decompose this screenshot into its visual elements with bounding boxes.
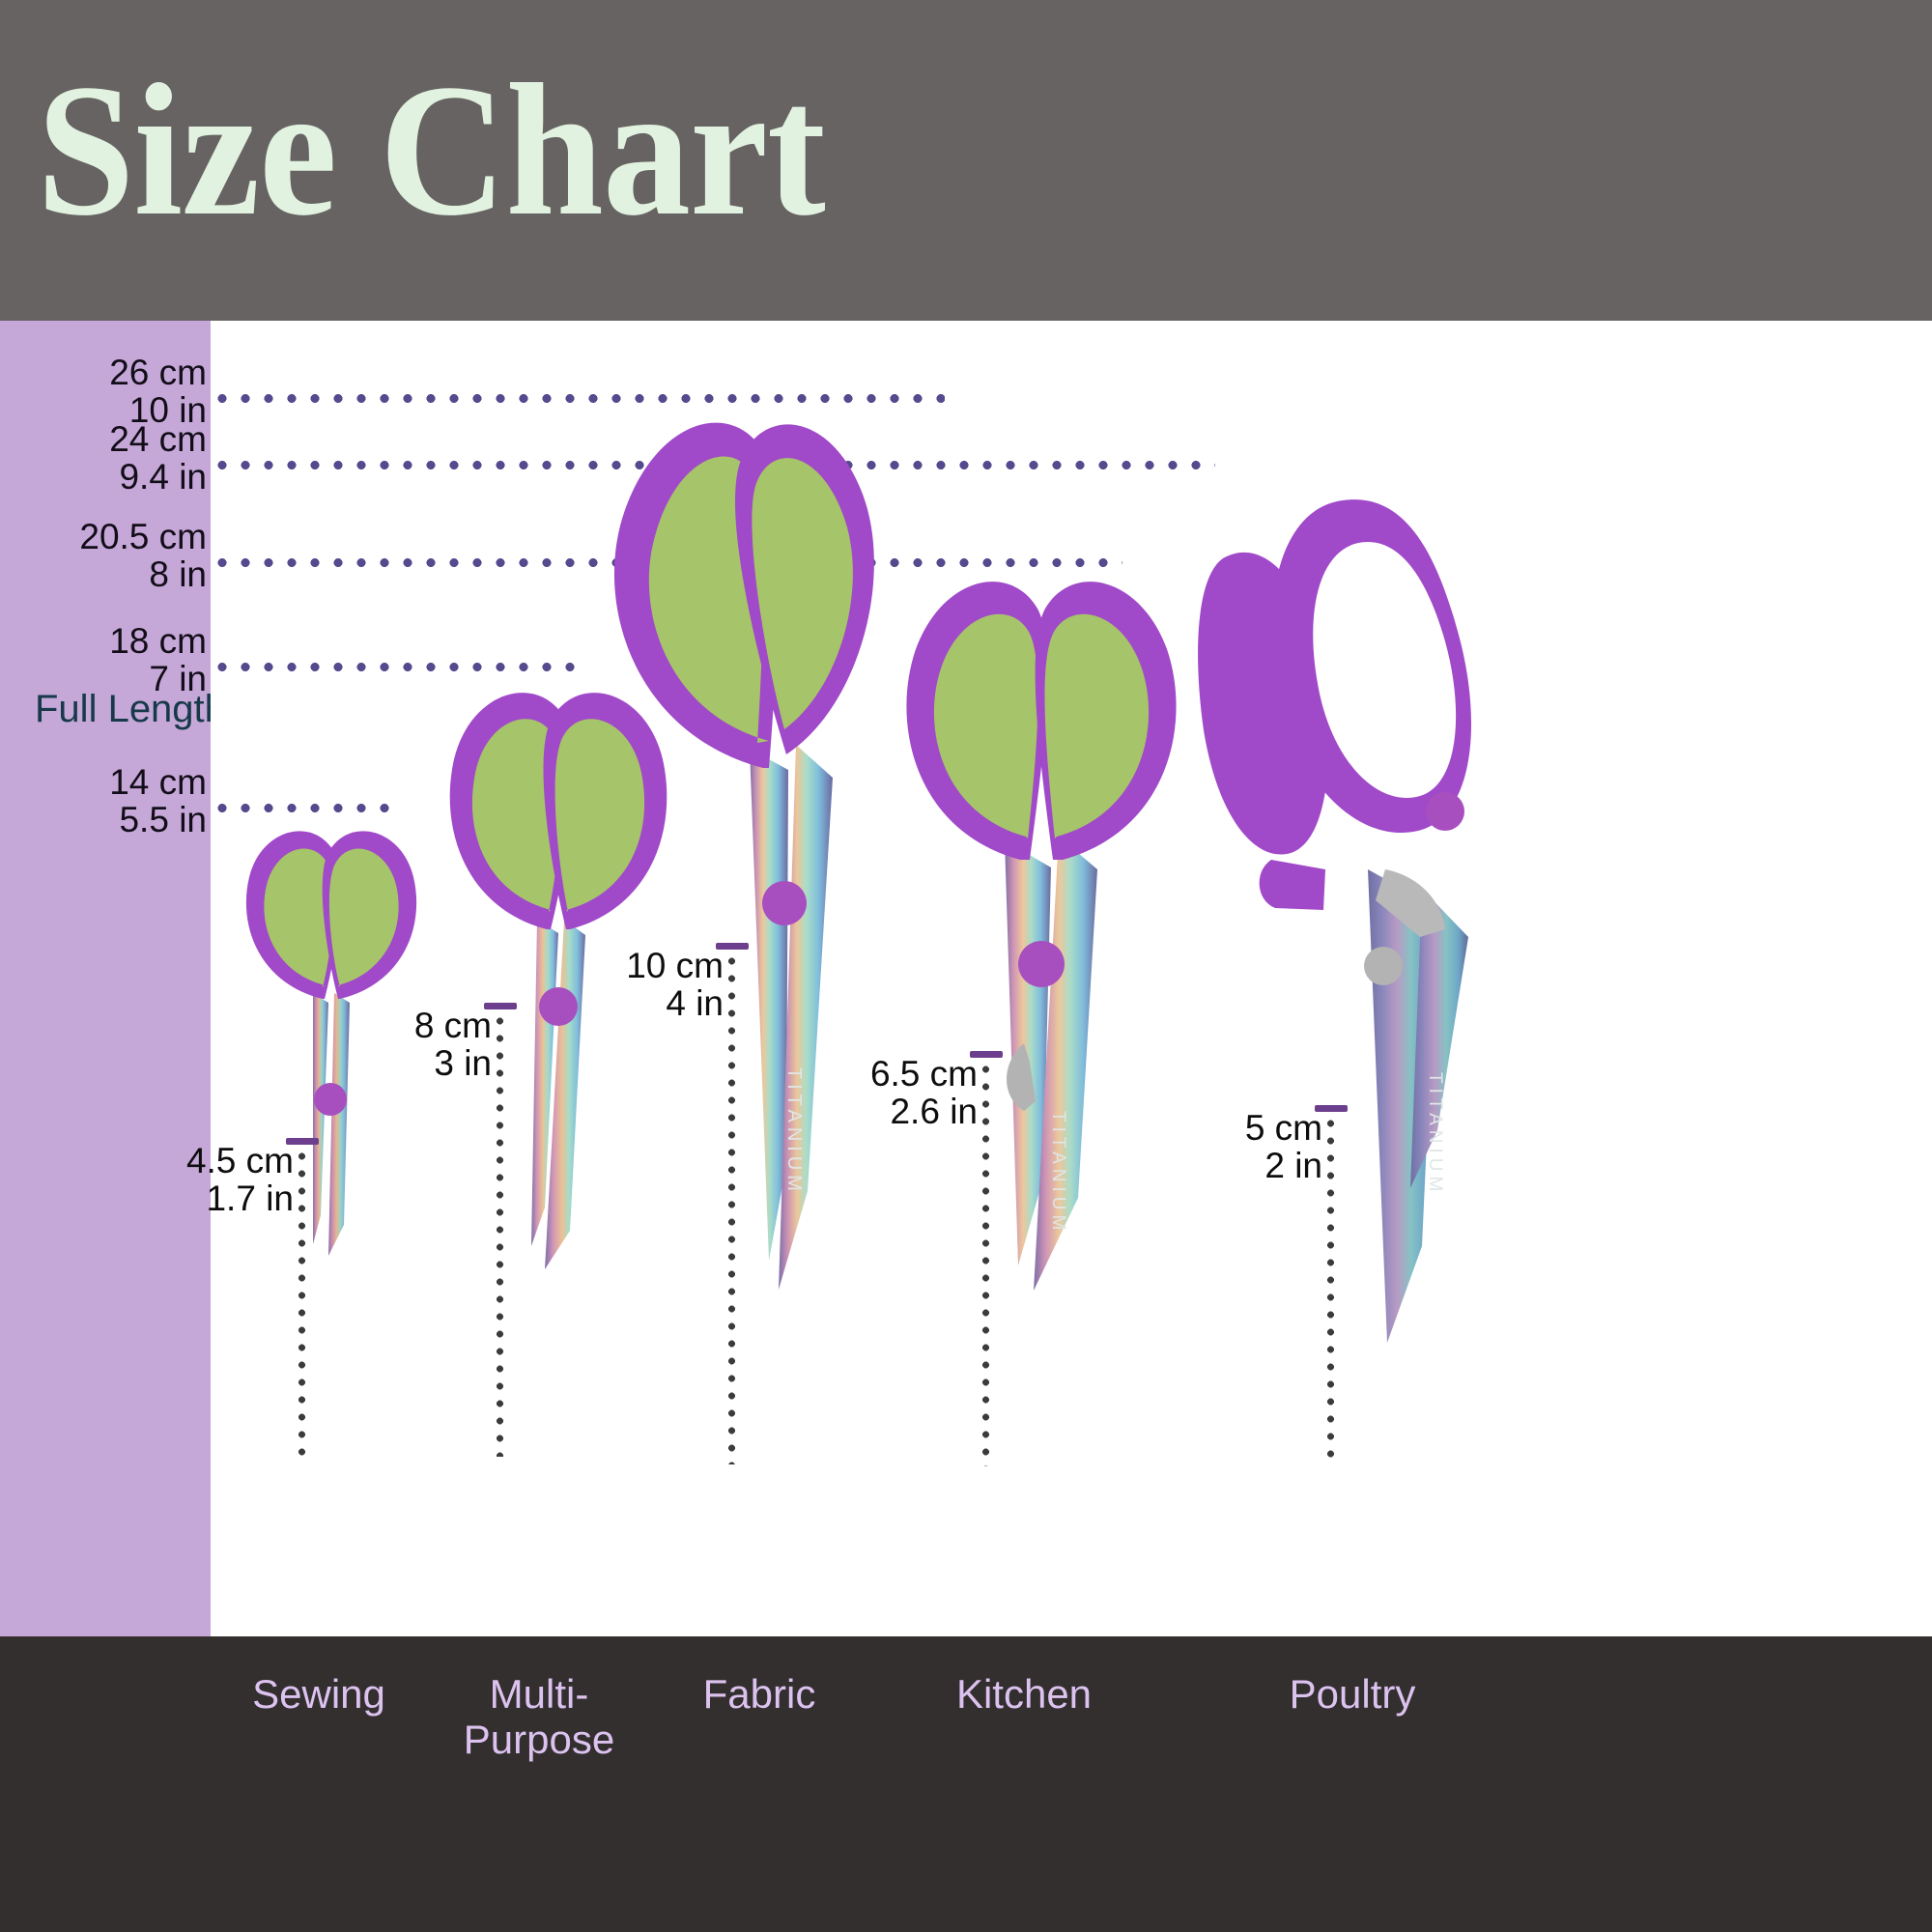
callout-text: 8 cm 3 in bbox=[414, 1007, 492, 1082]
size-chart-page: Size Chart Full Length Blade Length 26 c… bbox=[0, 0, 1932, 1932]
dotted-drop-line bbox=[728, 952, 735, 1464]
dotted-drop-line bbox=[982, 1061, 989, 1466]
callout-text: 6.5 cm 2.6 in bbox=[870, 1055, 978, 1130]
callout-in: 4 in bbox=[626, 984, 724, 1022]
scale-label-18cm: 18 cm 7 in bbox=[109, 622, 207, 697]
callout-in: 2.6 in bbox=[870, 1093, 978, 1130]
footer-label-fabric: Fabric bbox=[614, 1671, 904, 1717]
blade-brand-text: TITANIUM bbox=[1048, 1111, 1068, 1235]
poultry-blades bbox=[1368, 869, 1468, 1343]
fabric-handles bbox=[614, 423, 874, 925]
scissors-kitchen: TITANIUM bbox=[889, 560, 1217, 1410]
callout-cm: 4.5 cm bbox=[186, 1142, 294, 1179]
callout-cm: 10 cm bbox=[626, 947, 724, 984]
callout-cm: 6.5 cm bbox=[870, 1055, 978, 1093]
callout-text: 5 cm 2 in bbox=[1245, 1109, 1322, 1184]
scale-label-26cm: 26 cm 10 in bbox=[109, 354, 207, 429]
multi-purpose-blades bbox=[531, 920, 585, 1269]
sewing-blades bbox=[313, 993, 350, 1256]
page-title: Size Chart bbox=[37, 56, 825, 245]
blade-brand-text: TITANIUM bbox=[783, 1067, 805, 1196]
callout-text: 10 cm 4 in bbox=[626, 947, 724, 1022]
poultry-handles bbox=[1198, 499, 1471, 985]
scale-cm: 24 cm bbox=[109, 420, 207, 458]
callout-in: 2 in bbox=[1245, 1147, 1322, 1184]
scale-cm: 14 cm bbox=[109, 763, 207, 801]
header-bar: Size Chart bbox=[0, 0, 1932, 321]
callout-in: 3 in bbox=[414, 1044, 492, 1082]
dotted-drop-line bbox=[497, 1012, 503, 1457]
fabric-blades bbox=[750, 745, 833, 1290]
callout-cm: 5 cm bbox=[1245, 1109, 1322, 1147]
scale-in: 9.4 in bbox=[109, 458, 207, 496]
dotted-drop-line bbox=[1327, 1115, 1334, 1463]
scissors-poultry: TITANIUM bbox=[1179, 454, 1546, 1420]
callout-cm: 8 cm bbox=[414, 1007, 492, 1044]
scale-cm: 18 cm bbox=[109, 622, 207, 660]
callout-in: 1.7 in bbox=[186, 1179, 294, 1217]
scale-in: 7 in bbox=[109, 660, 207, 697]
footer-label-kitchen: Kitchen bbox=[879, 1671, 1169, 1717]
scale-label-14cm: 14 cm 5.5 in bbox=[109, 763, 207, 838]
scale-cm: 20.5 cm bbox=[79, 518, 207, 555]
footer-label-poultry: Poultry bbox=[1207, 1671, 1497, 1717]
footer-bar: Sewing Multi-Purpose Fabric Kitchen Poul… bbox=[0, 1636, 1932, 1932]
scale-cm: 26 cm bbox=[109, 354, 207, 391]
callout-text: 4.5 cm 1.7 in bbox=[186, 1142, 294, 1217]
scissors-fabric: TITANIUM bbox=[580, 391, 908, 1415]
dotted-drop-line bbox=[298, 1148, 305, 1457]
sewing-handles bbox=[246, 831, 416, 1116]
scale-in: 8 in bbox=[79, 555, 207, 593]
footer-label-line: Purpose bbox=[394, 1717, 684, 1762]
scale-in: 5.5 in bbox=[109, 801, 207, 838]
scale-label-24cm: 24 cm 9.4 in bbox=[109, 420, 207, 496]
blade-brand-text: TITANIUM bbox=[1425, 1072, 1445, 1196]
scale-label-20_5cm: 20.5 cm 8 in bbox=[79, 518, 207, 593]
